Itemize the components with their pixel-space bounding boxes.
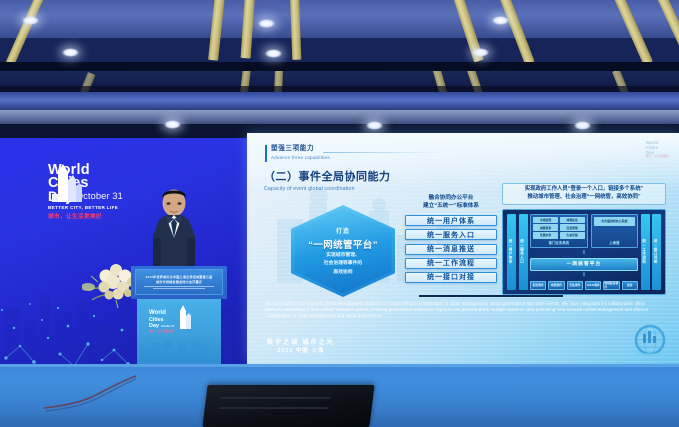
- side-label: 统一接口对接: [654, 239, 659, 264]
- dept-cell-label: 应急管理: [567, 226, 578, 230]
- five-unified-list: 融合协同办公平台 建立“五统一”标准体系 统一用户体系 统一服务入口 统一消息推…: [405, 195, 497, 286]
- five-unified-heading-line1: 融合协同办公平台: [405, 195, 497, 203]
- slide-kicker: 塑强三项能力 Advance three capabilities: [265, 145, 330, 162]
- hexagon-sub-line2: 社会治理等事件的: [324, 261, 362, 267]
- podium-signboard: 2023年世界城市日中国上海主场活动暨第三届 城市可持续发展全球大会开幕式: [135, 269, 223, 295]
- side-label: 统一用户体系: [509, 239, 514, 264]
- architecture-heading-line1: 实现政府工作人员“登录一个入口，链接多个系统”: [506, 186, 662, 194]
- ceiling-downlight: [265, 49, 282, 58]
- dept-cell: 应急管理: [560, 224, 585, 230]
- diagram-side-bar: 统一用户体系: [507, 214, 516, 290]
- slide-watermark-logo: World Cities Day 城市，让生活更美好: [646, 141, 669, 159]
- five-unified-heading-line2: 建立“五统一”标准体系: [405, 203, 497, 211]
- architecture-panel: 实现政府工作人员“登录一个入口，链接多个系统” 推动城市管理、社会治理“一网统管…: [502, 183, 666, 295]
- five-item-label: 统一工作流程: [427, 258, 475, 268]
- dept-cell-label: 城管执法: [567, 218, 578, 222]
- five-item-label: 统一消息推送: [427, 244, 475, 254]
- event-button-label: 城管事件: [551, 283, 562, 287]
- diagram-side-bar: 统一工作流程: [641, 214, 650, 290]
- city-platform-box: 市市级协同办公系统 上海通: [591, 214, 638, 248]
- tower-icon: [50, 160, 84, 202]
- diagram-arrow-up: ⇕: [530, 251, 638, 256]
- conference-stage-photo: World Cities Day October 31 BETTER CITY,…: [0, 0, 679, 427]
- event-button: 综治事件: [530, 281, 546, 290]
- department-systems-box: 市场监管 城管执法 城管巡查 应急管理 住建水务 生态环保 部门业务系统: [530, 214, 588, 248]
- dept-cell-label: 住建水务: [540, 233, 551, 237]
- hexagon-callout: 打造 “一网统管平台” 实现城市管理、 社会治理等事件的 高效协同: [291, 205, 395, 297]
- event-button-label: 安监事件: [569, 283, 580, 287]
- diagram-side-bar: 统一服务入口: [519, 214, 528, 290]
- section-title-cn: （二）事件全局协同能力: [264, 171, 391, 184]
- department-cell-grid: 市场监管 城管执法 城管巡查 应急管理 住建水务 生态环保: [533, 217, 585, 239]
- ceiling-downlight: [492, 16, 509, 25]
- kicker-text-en: Advance three capabilities: [271, 154, 330, 161]
- list-item: 统一用户体系: [405, 215, 497, 226]
- slide-section-title: （二）事件全局协同能力 Capacity of event global coo…: [264, 171, 391, 193]
- slide-english-paragraph: We have built a "one-network unified man…: [265, 301, 659, 320]
- dept-cell: 生态环保: [560, 232, 585, 238]
- podium-logo-tagline: 城市，让生活更美好: [149, 329, 195, 333]
- hexagon-sub-line1: 实现城市管理、: [326, 253, 360, 259]
- podium: 2023年世界城市日中国上海主场活动暨第三届 城市可持续发展全球大会开幕式 Wo…: [131, 266, 227, 369]
- speaker-person: [137, 186, 211, 272]
- list-item: 统一服务入口: [405, 229, 497, 240]
- ceiling-truss-rail: [0, 62, 679, 71]
- footer-subtitle: 2023 中国·上海: [267, 347, 334, 355]
- dept-cell-label: 生态环保: [567, 233, 578, 237]
- list-item: 统一工作流程: [405, 258, 497, 269]
- podium-tower-icon: [175, 303, 195, 329]
- podium-world-cities-day-logo: World Cities Day October 31 城市，让生活更美好: [149, 303, 195, 333]
- dept-cell: 城管执法: [560, 217, 585, 223]
- podium-sign-rule: [153, 288, 205, 289]
- event-button: 12345事件: [585, 281, 601, 290]
- city-platform-item: 市市级协同办公系统: [594, 217, 635, 226]
- ceiling-downlight: [62, 48, 79, 57]
- dept-cell-label: 市场监管: [540, 218, 551, 222]
- stage-confidence-monitor: [202, 385, 374, 427]
- ceiling-downlight: [574, 121, 591, 130]
- event-button: 城管事件: [548, 281, 564, 290]
- hexagon-sub-line3: 高效协同: [333, 270, 352, 276]
- presentation-screen: 塑强三项能力 Advance three capabilities （二）事件全…: [247, 133, 679, 364]
- logo-tagline-en: BETTER CITY, BETTER LIFE: [48, 205, 123, 210]
- ceiling-upper-band: [0, 0, 679, 38]
- podium-sign-line2: 城市可持续发展全球大会开幕式: [156, 280, 202, 284]
- five-item-label: 统一接口对接: [427, 272, 475, 282]
- ceiling-downlight: [258, 19, 275, 28]
- watermark-tagline: 城市，让生活更美好: [646, 155, 669, 158]
- ceiling-downlight: [366, 121, 383, 130]
- unified-platform-bar: 一网统管平台: [530, 258, 638, 271]
- city-platform-item-label: 市市级协同办公系统: [601, 219, 627, 223]
- hexagon-lead-text: 打造: [336, 226, 350, 235]
- event-button: 更多: [622, 281, 638, 290]
- diagram-side-bar: 统一接口对接: [652, 214, 661, 290]
- diagram-arrow-down: ⇕: [530, 273, 638, 278]
- ceiling-downlight: [22, 16, 39, 25]
- monitor-seam: [220, 397, 330, 399]
- architecture-diagram: 统一用户体系 统一服务入口 市场监管 城管执法 城管巡查 应急管理 住建水务 生…: [502, 209, 666, 295]
- unified-platform-label: 一网统管平台: [567, 261, 602, 267]
- stage-floor-edge: [0, 364, 679, 367]
- slide-footer: 数字之城 城市之光 2023 中国·上海: [267, 338, 334, 355]
- architecture-heading-line2: 推动城市管理、社会治理“一网统管，高效协同”: [506, 194, 662, 202]
- stage-cable: [40, 372, 140, 422]
- podium-sign-rule: [144, 286, 214, 287]
- ceiling-downlight: [164, 120, 181, 129]
- monitor-seam: [219, 407, 329, 409]
- podium-sign-line1: 2023年世界城市日中国上海主场活动暨第三届: [146, 275, 213, 279]
- architecture-heading: 实现政府工作人员“登录一个入口，链接多个系统” 推动城市管理、社会治理“一网统管…: [502, 183, 666, 205]
- diagram-bottom-row: 综治事件 城管事件 安监事件 12345事件 热线投诉事件 更多: [530, 281, 638, 290]
- city-box-caption: 上海通: [609, 240, 619, 245]
- diagram-center: 市场监管 城管执法 城管巡查 应急管理 住建水务 生态环保 部门业务系统 市市级…: [530, 214, 638, 290]
- ceiling: [0, 0, 679, 122]
- side-label: 统一工作流程: [643, 239, 648, 264]
- event-button-label: 12345事件: [586, 283, 599, 287]
- footer-title-cn: 数字之城 城市之光: [267, 338, 334, 347]
- event-button-label: 更多: [627, 283, 633, 287]
- kicker-rule: [323, 152, 441, 153]
- ceiling-lower-band: [0, 92, 679, 110]
- event-button: 热线投诉事件: [603, 281, 619, 290]
- five-item-label: 统一服务入口: [427, 230, 475, 240]
- list-item: 统一消息推送: [405, 244, 497, 255]
- diagram-top-row: 市场监管 城管执法 城管巡查 应急管理 住建水务 生态环保 部门业务系统 市市级…: [530, 214, 638, 248]
- logo-tagline-cn: 城市，让生活更美好: [48, 212, 123, 220]
- podium-top: 2023年世界城市日中国上海主场活动暨第三届 城市可持续发展全球大会开幕式: [131, 266, 227, 299]
- dept-cell-label: 城管巡查: [540, 226, 551, 230]
- podium-logo-date: October 31: [161, 325, 175, 329]
- globe-graphic: [627, 322, 673, 358]
- dept-cell: 住建水务: [533, 232, 558, 238]
- backdrop-world-cities-day-logo: World Cities Day October 31 BETTER CITY,…: [48, 164, 123, 220]
- event-button: 安监事件: [567, 281, 583, 290]
- section-title-en: Capacity of event global coordination: [264, 185, 391, 193]
- ceiling-downlight: [472, 48, 489, 57]
- kicker-accent-bar: [265, 145, 267, 162]
- list-item: 统一接口对接: [405, 272, 497, 283]
- dept-cell: 市场监管: [533, 217, 558, 223]
- five-item-label: 统一用户体系: [427, 216, 475, 226]
- department-box-caption: 部门业务系统: [533, 240, 585, 245]
- event-button-label: 热线投诉事件: [604, 281, 618, 289]
- kicker-text-cn: 塑强三项能力: [271, 145, 330, 153]
- hexagon-main-text: “一网统管平台”: [308, 237, 378, 251]
- dept-cell: 城管巡查: [533, 224, 558, 230]
- podium-body: World Cities Day October 31 城市，让生活更美好: [137, 299, 221, 369]
- side-label: 统一服务入口: [521, 239, 526, 264]
- slide-separator-rule: [419, 295, 563, 297]
- event-button-label: 综治事件: [533, 283, 544, 287]
